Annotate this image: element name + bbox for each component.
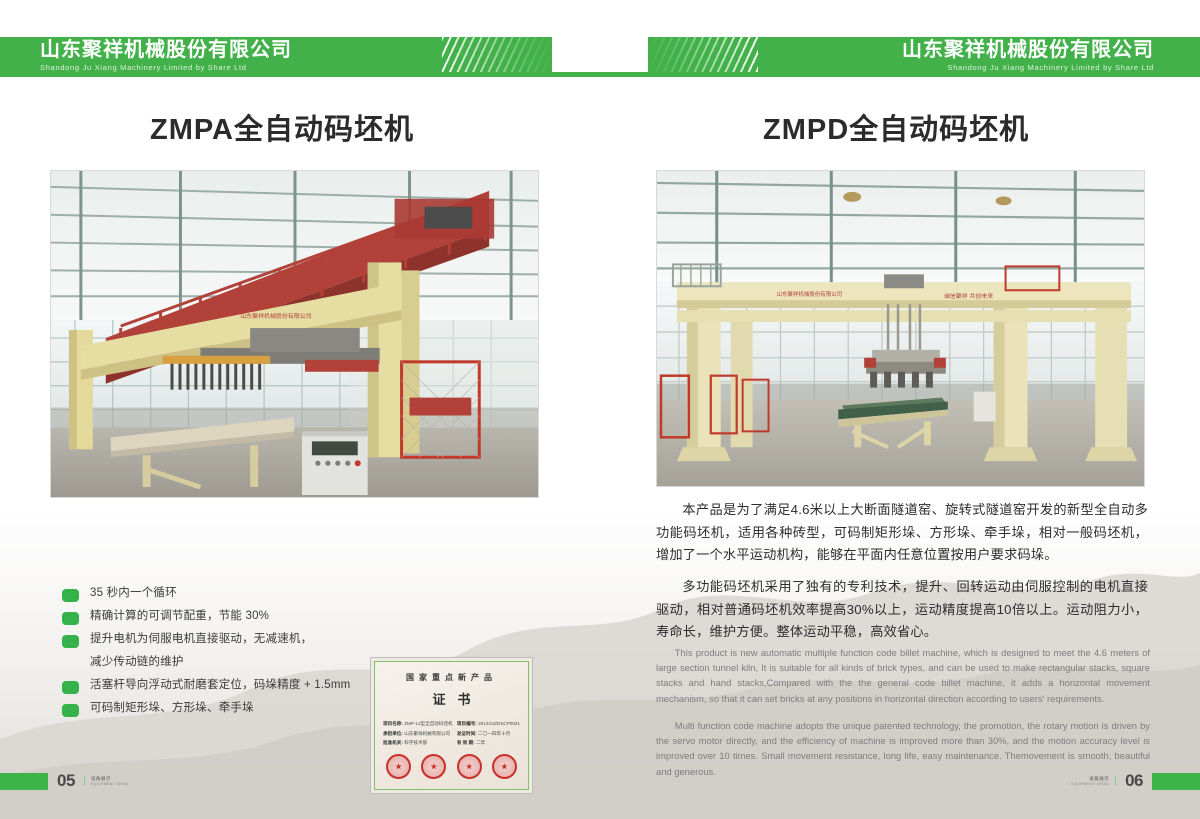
header-stripes-left-icon [442, 37, 552, 77]
certificate-fields-right: 项目编号: 2014GJZDXCP0021 发证时间: 二〇一四年十月 有 效 … [457, 719, 520, 748]
paragraph-text: 多功能码坯机采用了独有的专利技术，提升、回转运动由伺服控制的电机直接驱动，相对普… [656, 576, 1148, 644]
list-item: 提升电机为伺服电机直接驱动，无减速机， [62, 632, 392, 648]
certificate-field-row: 项目编号: 2014GJZDXCP0021 [457, 719, 520, 729]
certificate-field-value: 二〇一四年十月 [478, 731, 510, 736]
page-title-left: ZMPA全自动码坯机 [150, 106, 414, 148]
paragraph-text: This product is new automatic multiple f… [656, 645, 1150, 706]
footer-meta-cn-right: 设备展示 [1071, 776, 1109, 781]
certificate-field-label: 项目编号: [457, 721, 477, 726]
brand-right: 山东聚祥机械股份有限公司 Shandong Ju Xiang Machinery… [902, 40, 1154, 72]
svg-text:山东聚祥机械股份有限公司: 山东聚祥机械股份有限公司 [777, 290, 843, 298]
bullet-label: 可码制矩形垛、方形垛、牵手垛 [90, 701, 254, 717]
brand-name-cn-left: 山东聚祥机械股份有限公司 [40, 40, 292, 60]
header-stripes-right-icon [648, 37, 758, 77]
certificate-field-label: 项目名称: [383, 721, 403, 726]
header-rule-right [600, 72, 1200, 77]
certificate-field-row: 项目名称: ZMP-12型全自动码坯机 [383, 719, 453, 729]
bullet-marker-placeholder-icon [62, 658, 79, 671]
bullet-marker-icon [62, 635, 79, 648]
page-left: ZMPA全自动码坯机 [0, 77, 600, 819]
certificate-fields-left: 项目名称: ZMP-12型全自动码坯机 承担单位: 山东聚祥机械有限公司 批准机… [383, 719, 453, 748]
description-paragraph-cn-1: 本产品是为了满足4.6米以上大断面隧道窑、旋转式隧道窑开发的新型全自动多功能码坯… [656, 499, 1148, 567]
certificate-field-row: 批准机关: 科学技术部 [383, 738, 453, 748]
certificate-field-label: 承担单位: [383, 731, 403, 736]
header-rule-left [0, 72, 600, 77]
page-title-right: ZMPD全自动码坯机 [763, 106, 1029, 148]
product-photo-zmpa: 山东聚祥机械股份有限公司 [50, 170, 539, 498]
official-seal-icon [457, 754, 482, 779]
official-seal-icon [386, 754, 411, 779]
brand-left: 山东聚祥机械股份有限公司 Shandong Ju Xiang Machinery… [40, 40, 292, 72]
page-right: ZMPD全自动码坯机 [600, 77, 1200, 819]
bullet-label: 精确计算的可调节配重，节能 30% [90, 609, 269, 625]
footer-accent-bar-left [0, 773, 48, 790]
bullet-label: 活塞杆导向浮动式耐磨套定位，码垛精度 + 1.5mm [90, 678, 350, 694]
bullet-marker-icon [62, 589, 79, 602]
official-seal-icon [492, 754, 517, 779]
svg-text:诚信聚祥 共创未来: 诚信聚祥 共创未来 [944, 292, 993, 300]
certificate-field-value: 科学技术部 [404, 740, 427, 745]
page-number-right: 06 [1125, 771, 1143, 791]
list-item: 可码制矩形垛、方形垛、牵手垛 [62, 701, 392, 717]
certificate-heading: 国家重点新产品 [375, 672, 528, 683]
bullet-label: 减少传动链的维护 [90, 655, 184, 671]
footer-meta-en-right: EQUIPMENT SHOW [1071, 782, 1109, 786]
list-item: 精确计算的可调节配重，节能 30% [62, 609, 392, 625]
footer-meta-left: 设备展示 EQUIPMENT SHOW [84, 776, 129, 786]
certificate-fields: 项目名称: ZMP-12型全自动码坯机 承担单位: 山东聚祥机械有限公司 批准机… [383, 719, 520, 748]
certificate-field-label: 批准机关: [383, 740, 403, 745]
certificate-field-row: 有 效 期: 二年 [457, 738, 520, 748]
page-number-left: 05 [57, 771, 75, 791]
footer-meta-en-left: EQUIPMENT SHOW [91, 782, 129, 786]
list-item: 活塞杆导向浮动式耐磨套定位，码垛精度 + 1.5mm [62, 678, 392, 694]
product-photo-zmpd: 山东聚祥机械股份有限公司 诚信聚祥 共创未来 [656, 170, 1145, 487]
certificate-seals [375, 754, 528, 779]
description-paragraph-cn-2: 多功能码坯机采用了独有的专利技术，提升、回转运动由伺服控制的电机直接驱动，相对普… [656, 576, 1148, 644]
certificate-title: 证书 [375, 689, 528, 708]
svg-text:山东聚祥机械股份有限公司: 山东聚祥机械股份有限公司 [240, 312, 312, 320]
list-item: 35 秒内一个循环 [62, 586, 392, 602]
brand-name-en-left: Shandong Ju Xiang Machinery Limited by S… [40, 64, 292, 72]
certificate-inner: 国家重点新产品 证书 项目名称: ZMP-12型全自动码坯机 承担单位: 山东聚… [374, 661, 529, 790]
brand-name-en-right: Shandong Ju Xiang Machinery Limited by S… [902, 64, 1154, 72]
certificate-field-value: 山东聚祥机械有限公司 [404, 731, 450, 736]
bullet-label: 35 秒内一个循环 [90, 586, 177, 602]
description-paragraph-en-1: This product is new automatic multiple f… [656, 645, 1150, 706]
brand-name-cn-right: 山东聚祥机械股份有限公司 [902, 40, 1154, 60]
certificate-field-label: 有 效 期: [457, 740, 475, 745]
footer-accent-bar-right [1152, 773, 1200, 790]
bullet-label: 提升电机为伺服电机直接驱动，无减速机， [90, 632, 312, 648]
certificate-image: 国家重点新产品 证书 项目名称: ZMP-12型全自动码坯机 承担单位: 山东聚… [370, 657, 533, 794]
brochure-spread: 山东聚祥机械股份有限公司 Shandong Ju Xiang Machinery… [0, 0, 1200, 819]
certificate-field-value: 二年 [476, 740, 485, 745]
certificate-field-row: 承担单位: 山东聚祥机械有限公司 [383, 729, 453, 739]
footer-left: 05 设备展示 EQUIPMENT SHOW [0, 770, 129, 792]
feature-bullet-list: 35 秒内一个循环 精确计算的可调节配重，节能 30% 提升电机为伺服电机直接驱… [62, 586, 392, 724]
certificate-field-label: 发证时间: [457, 731, 477, 736]
bullet-marker-icon [62, 681, 79, 694]
official-seal-icon [421, 754, 446, 779]
bullet-marker-icon [62, 612, 79, 625]
certificate-field-value: ZMP-12型全自动码坯机 [404, 721, 453, 726]
footer-right: 06 设备展示 EQUIPMENT SHOW [1071, 770, 1200, 792]
paragraph-text: 本产品是为了满足4.6米以上大断面隧道窑、旋转式隧道窑开发的新型全自动多功能码坯… [656, 499, 1148, 567]
list-item-continuation: 减少传动链的维护 [62, 655, 392, 671]
footer-meta-right: 设备展示 EQUIPMENT SHOW [1071, 776, 1116, 786]
bullet-marker-icon [62, 704, 79, 717]
certificate-field-value: 2014GJZDXCP0021 [478, 721, 520, 726]
certificate-field-row: 发证时间: 二〇一四年十月 [457, 729, 520, 739]
footer-meta-cn-left: 设备展示 [91, 776, 129, 781]
